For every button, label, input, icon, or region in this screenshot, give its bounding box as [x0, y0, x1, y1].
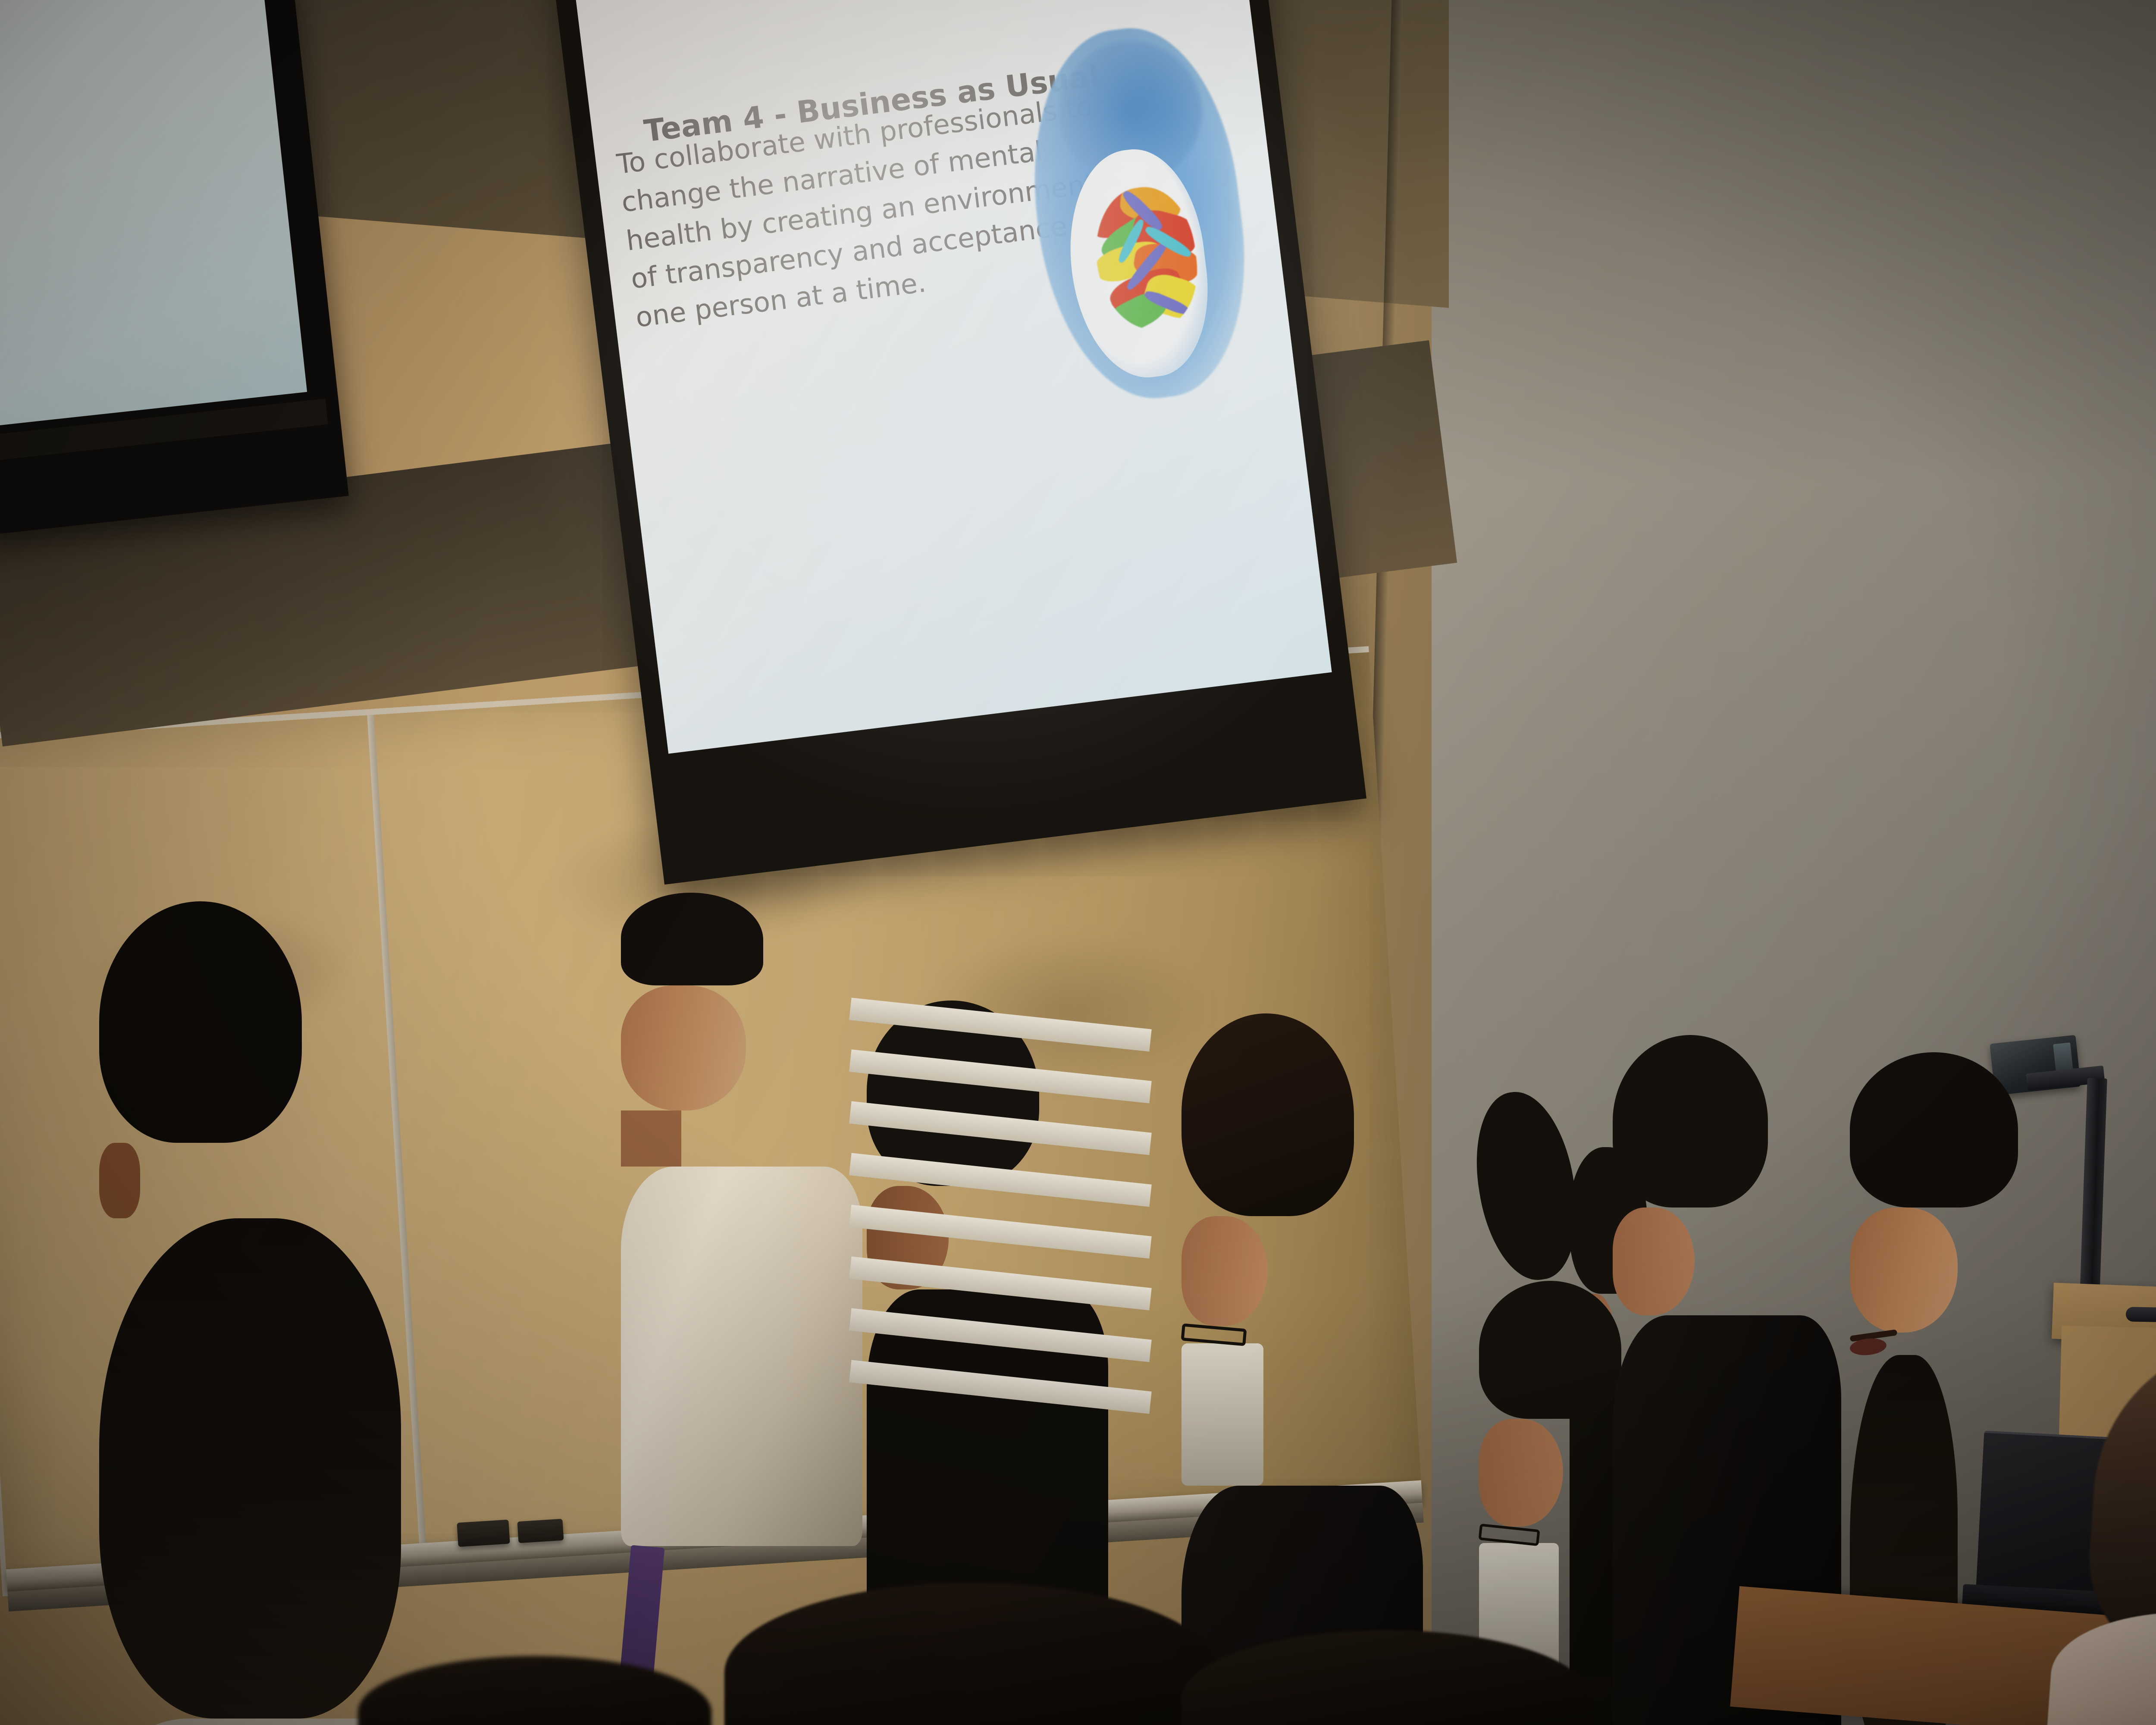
microphone[interactable] — [2126, 1307, 2156, 1323]
projection-screen-left — [0, 0, 349, 536]
classroom-photo: Mental Health Team 4 - Business as Usual… — [0, 0, 2156, 1725]
glasses-icon — [1181, 1324, 1247, 1346]
presenter-1 — [99, 901, 470, 1725]
whiteboard-eraser[interactable] — [517, 1519, 564, 1543]
presenter-4 — [1181, 1013, 1449, 1725]
presentation-slide: Mental Health Team 4 - Business as Usual… — [575, 0, 1332, 754]
projection-screen-main: Mental Health Team 4 - Business as Usual… — [539, 0, 1366, 884]
ponytail — [1465, 1085, 1588, 1287]
slide-artwork — [998, 10, 1285, 425]
